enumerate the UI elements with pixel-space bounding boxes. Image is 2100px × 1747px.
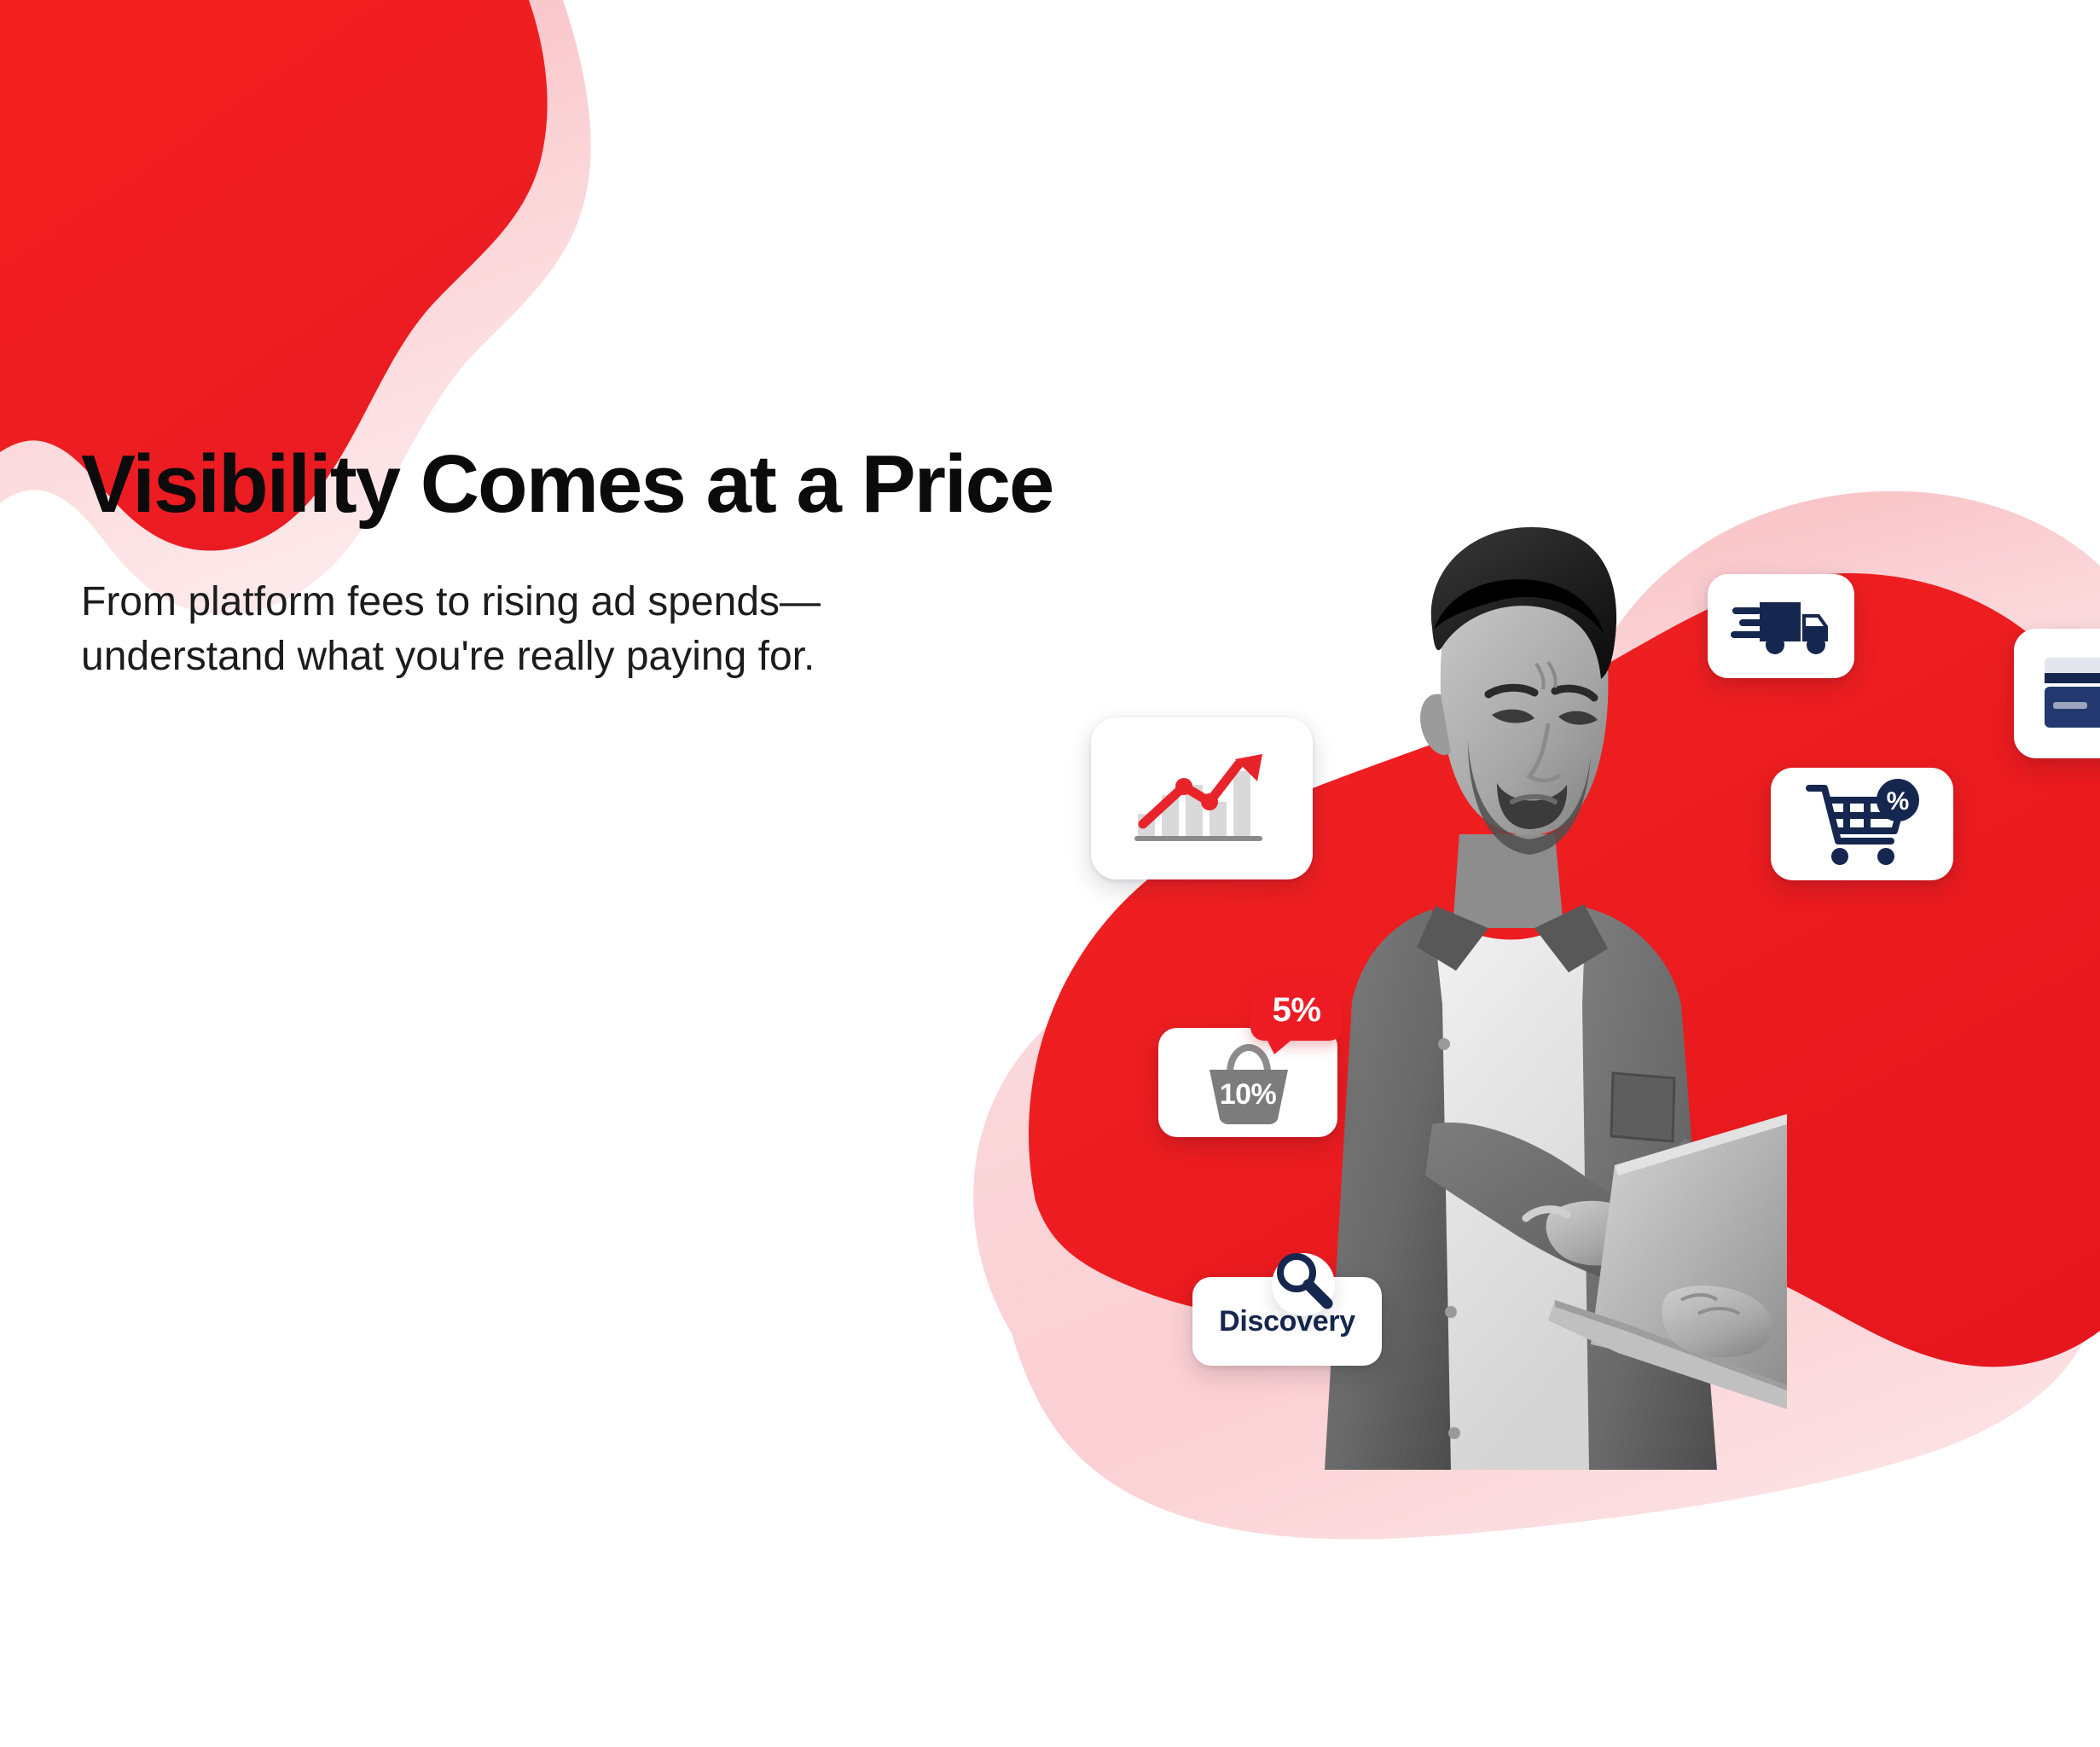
page-title: Visibility Comes at a Price	[81, 440, 1360, 529]
badge-growth-chart[interactable]	[1091, 717, 1313, 879]
badge-fast-delivery[interactable]	[1708, 574, 1854, 678]
credit-card-icon	[2031, 651, 2100, 737]
magnifying-glass-icon	[1263, 1241, 1342, 1320]
shopping-cart-percent-icon: %	[1802, 778, 1922, 871]
badge-discount[interactable]: 10%	[1158, 1028, 1337, 1137]
discount-bubble-5-percent[interactable]: 5%	[1250, 979, 1343, 1041]
bag-discount-value: 10%	[1198, 1078, 1298, 1111]
page-subtitle: From platform fees to rising ad spends— …	[81, 575, 994, 684]
badge-payment-card[interactable]	[2014, 629, 2100, 758]
hero-text-column: Visibility Comes at a Price From platfor…	[81, 440, 1360, 684]
svg-text:%: %	[1887, 787, 1910, 815]
badge-cart-discount[interactable]: %	[1771, 768, 1953, 880]
hero-banner: Visibility Comes at a Price From platfor…	[0, 0, 2100, 1747]
delivery-truck-icon	[1731, 592, 1831, 661]
bubble-discount-value: 5%	[1273, 991, 1321, 1030]
growth-chart-icon	[1126, 742, 1278, 856]
